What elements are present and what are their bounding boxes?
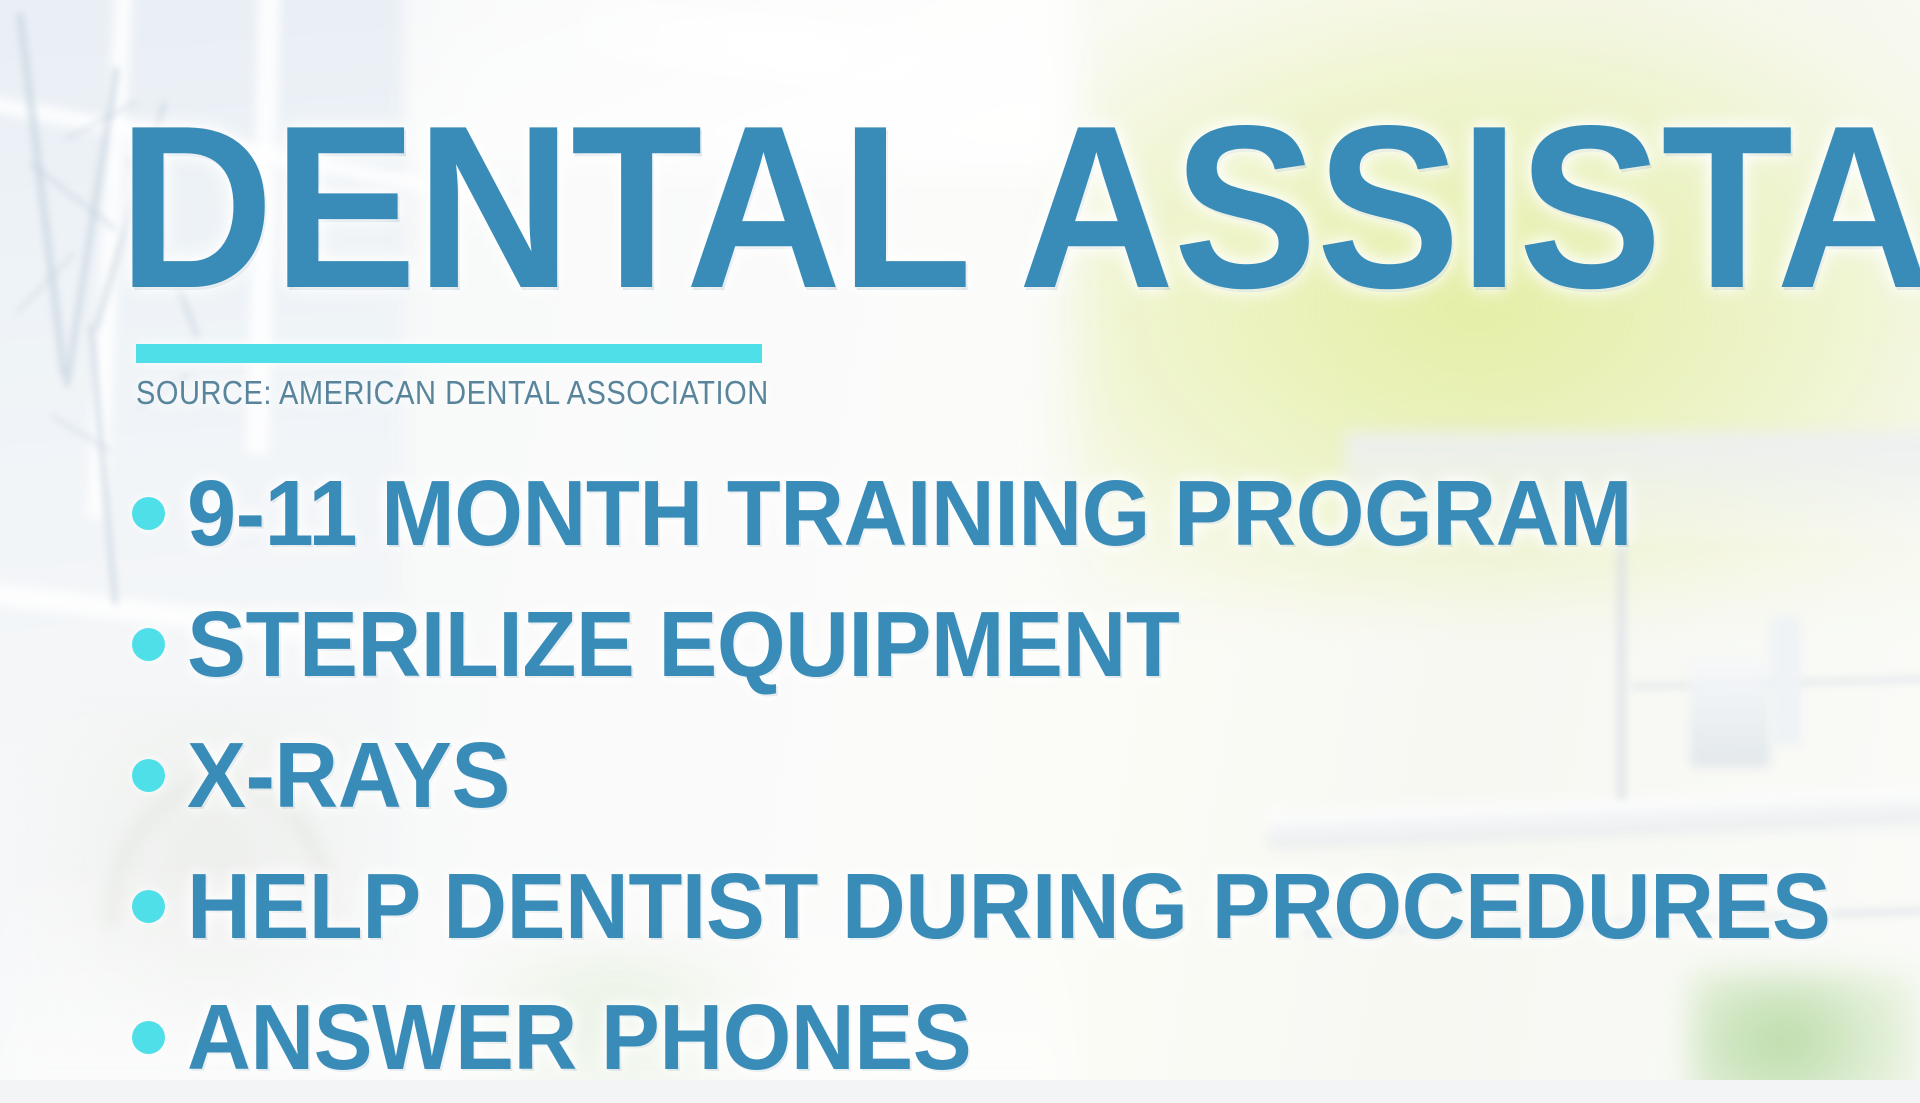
list-item-label: HELP DENTIST DURING PROCEDURES	[187, 860, 1830, 953]
title-accent-bar	[136, 344, 762, 363]
list-item: HELP DENTIST DURING PROCEDURES	[132, 841, 1892, 972]
bullet-dot-icon	[132, 890, 165, 923]
bullet-dot-icon	[132, 628, 165, 661]
lower-third-graphic: DENTAL ASSISTANT SOURCE: AMERICAN DENTAL…	[0, 0, 1920, 1080]
list-item-label: ANSWER PHONES	[187, 991, 971, 1084]
list-item-label: X-RAYS	[187, 729, 510, 822]
source-attribution: SOURCE: AMERICAN DENTAL ASSOCIATION	[136, 374, 769, 412]
list-item: STERILIZE EQUIPMENT	[132, 579, 1892, 710]
list-item: 9-11 MONTH TRAINING PROGRAM	[132, 448, 1892, 579]
bullet-list: 9-11 MONTH TRAINING PROGRAM STERILIZE EQ…	[132, 448, 1892, 1103]
bullet-dot-icon	[132, 497, 165, 530]
page-title: DENTAL ASSISTANT	[118, 108, 1920, 308]
list-item-label: STERILIZE EQUIPMENT	[187, 598, 1179, 691]
list-item-label: 9-11 MONTH TRAINING PROGRAM	[187, 467, 1632, 560]
bullet-dot-icon	[132, 759, 165, 792]
list-item: X-RAYS	[132, 710, 1892, 841]
bullet-dot-icon	[132, 1021, 165, 1054]
list-item: ANSWER PHONES	[132, 972, 1892, 1103]
